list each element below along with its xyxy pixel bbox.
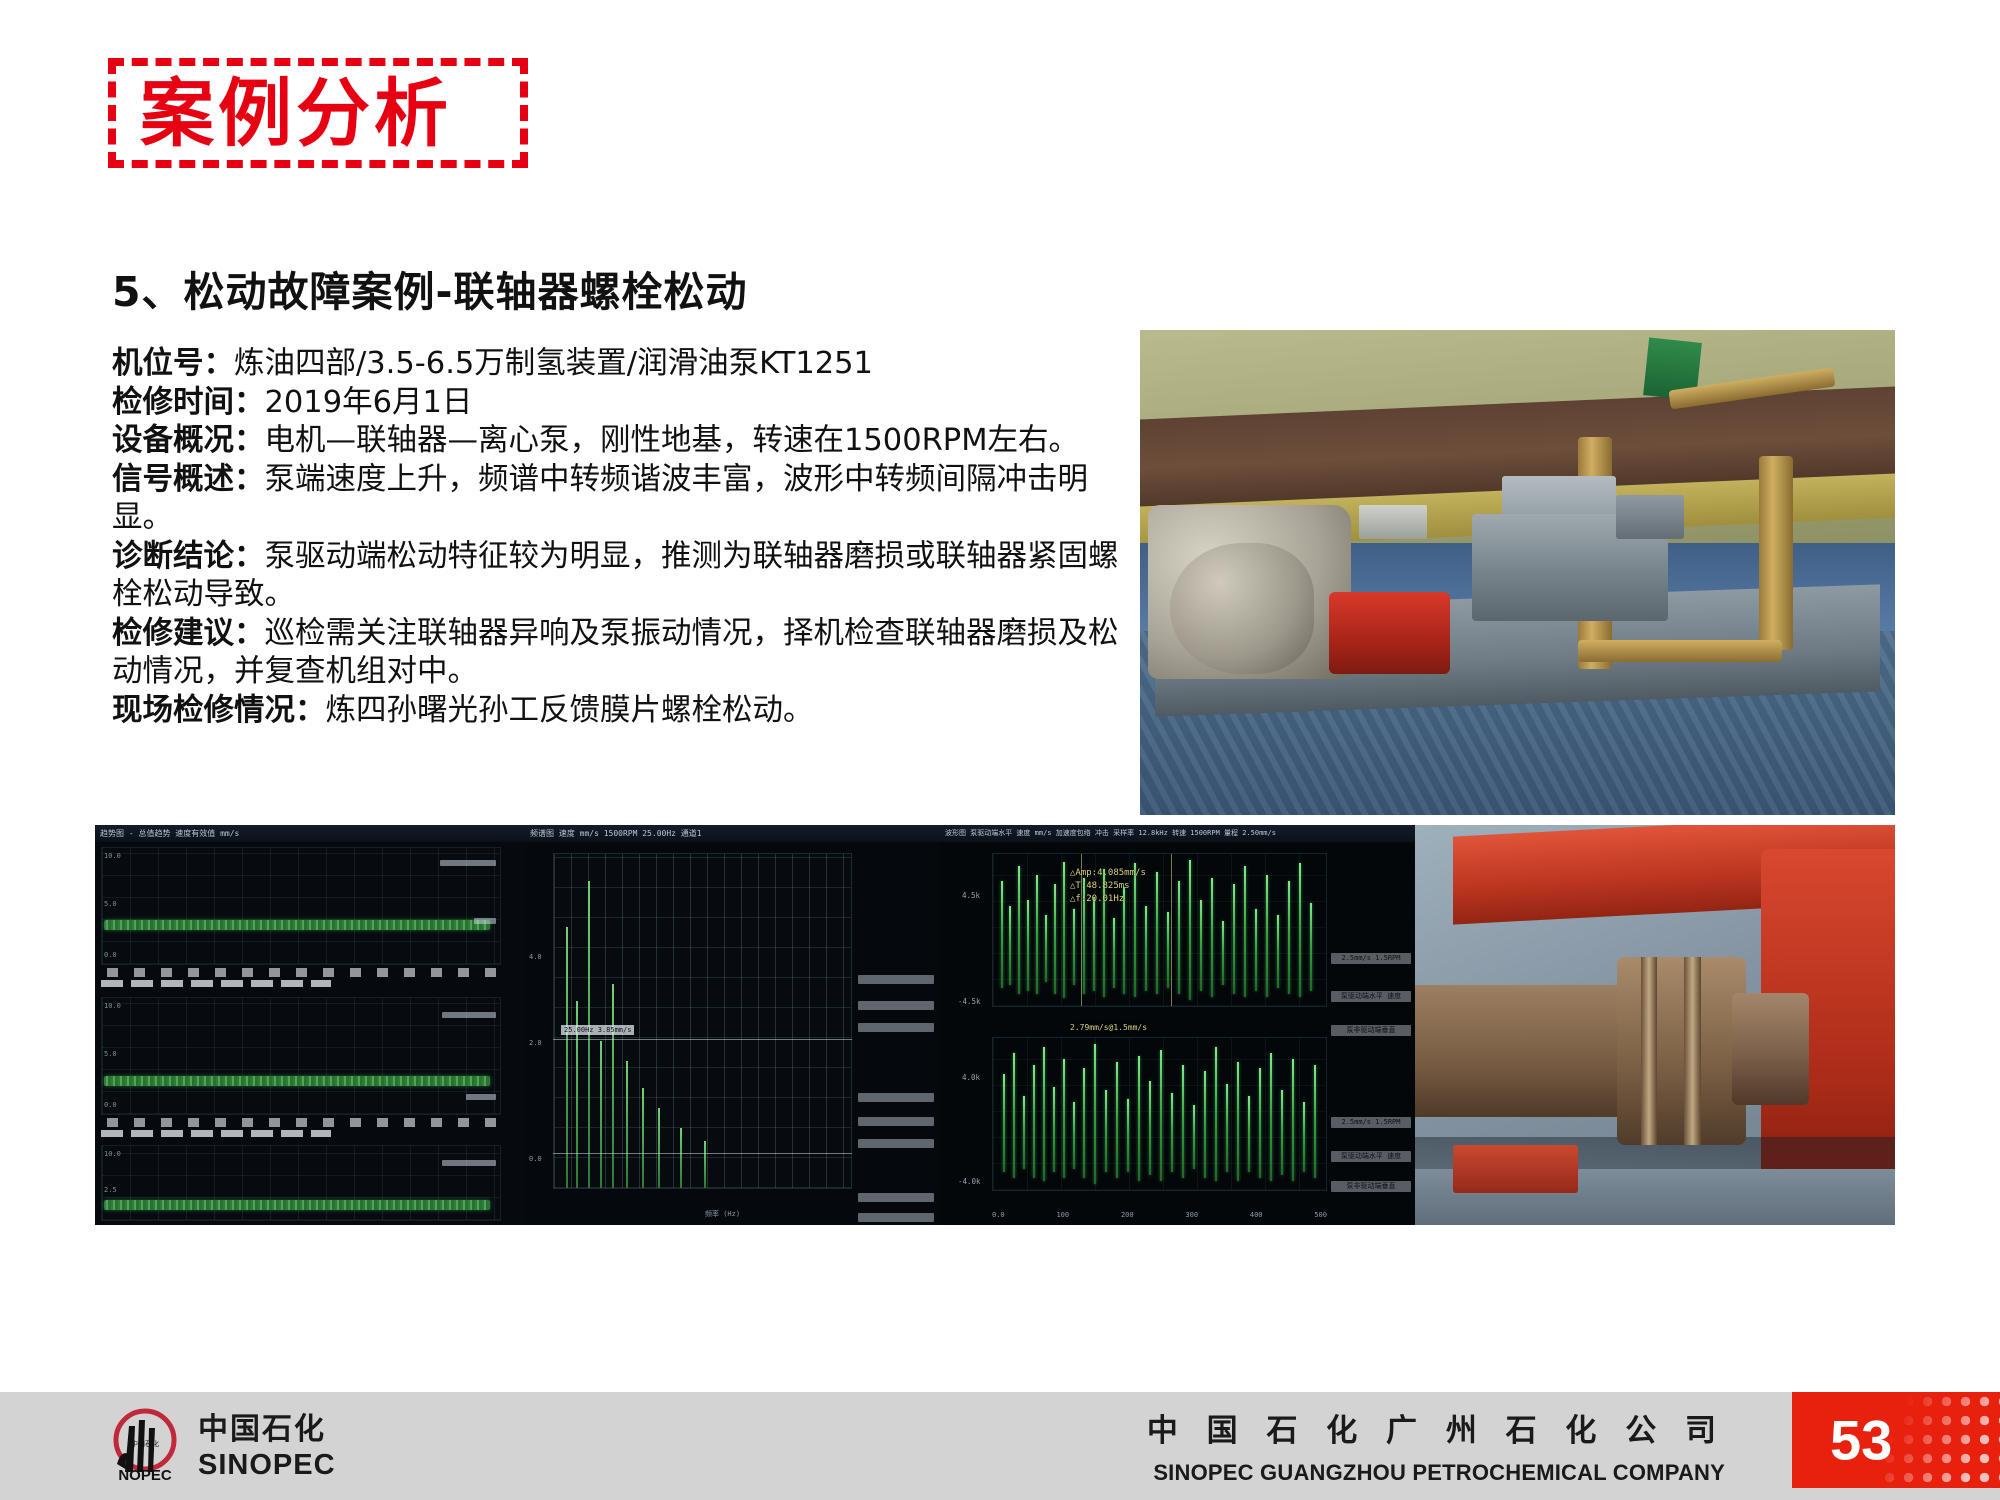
spectrum-x-axis-label: 频率 (Hz) <box>705 1209 740 1219</box>
waveform-spike <box>1211 878 1213 997</box>
spectrum-sidebar-entry[interactable] <box>858 1213 934 1222</box>
waveform-spike <box>1023 1096 1025 1169</box>
spectrum-sidebar-entry[interactable] <box>858 1023 934 1032</box>
waveform-spike <box>1200 900 1202 991</box>
coupling-shaft-left <box>1415 985 1636 1117</box>
halftone-dots-pattern <box>1880 1392 2000 1488</box>
waveform-spike <box>1277 915 1279 988</box>
waveform-spike <box>1299 863 1301 997</box>
waveform-x-tick: 0.0 <box>992 1211 1005 1221</box>
waveform-spike <box>1013 1053 1015 1178</box>
waveform-spike <box>1063 862 1065 999</box>
sinopec-logo-icon: 中国石化 NOPEC <box>95 1406 195 1484</box>
company-name-en: SINOPEC GUANGZHOU PETROCHEMICAL COMPANY <box>1153 1460 1725 1486</box>
waveform-spike <box>1266 875 1268 997</box>
pump-equipment-photo <box>1140 330 1895 815</box>
waveform-x-tick: 500 <box>1314 1211 1327 1221</box>
detail-value: 炼油四部/3.5-6.5万制氢装置/润滑油泵KT1251 <box>234 346 873 381</box>
waveform-spike <box>1145 906 1147 991</box>
spectrum-peak <box>704 1141 706 1188</box>
sinopec-brand-cn: 中国石化 <box>198 1404 326 1448</box>
waveform-spike <box>1303 1102 1305 1172</box>
waveform-chart-panel[interactable]: 波形图 泵驱动端水平 速度 mm/s 加速度包络 冲击 采样率 12.8kHz … <box>940 825 1415 1225</box>
waveform-spike <box>1116 1062 1118 1178</box>
trend-tick-row <box>107 968 497 977</box>
waveform-spike <box>1045 915 1047 982</box>
detail-label: 检修时间： <box>112 385 265 420</box>
waveform-annotation-line: △T:48.825ms <box>1070 880 1146 893</box>
spectrum-panel-titlebar: 频谱图 速度 mm/s 1500RPM 25.00Hz 通道1 <box>525 825 940 842</box>
photo-pipe-vertical-right <box>1759 456 1793 650</box>
waveform-cursor[interactable] <box>1171 854 1172 1006</box>
waveform-spike <box>1233 884 1235 993</box>
waveform-sidebar-entry[interactable]: 泵驱动端水平 速度 <box>1331 991 1411 1002</box>
waveform-sidebar-entry[interactable]: 泵非驱动端垂直 <box>1331 1025 1411 1036</box>
waveform-y-label-bottom-min: -4.0k <box>958 1177 981 1186</box>
trend-y-label: 0.0 <box>104 1101 117 1109</box>
trend-y-label: 0.0 <box>104 951 117 959</box>
trend-legend-swatch <box>442 1160 496 1166</box>
waveform-sidebar-entry[interactable]: 泵非驱动端垂直 <box>1331 1181 1411 1192</box>
page-title: 案例分析 <box>140 70 452 158</box>
detail-row: 机位号：炼油四部/3.5-6.5万制氢装置/润滑油泵KT1251 <box>112 345 1122 384</box>
case-details-block: 机位号：炼油四部/3.5-6.5万制氢装置/润滑油泵KT1251 检修时间：20… <box>112 345 1122 730</box>
waveform-spike <box>1288 881 1290 993</box>
trend-chart-panel[interactable]: 趋势图 - 总值趋势 速度有效值 mm/s 10.0 5.0 0.0 10.0 … <box>95 825 525 1225</box>
page-number-badge: 53 <box>1792 1392 2000 1488</box>
spectrum-peak <box>612 984 614 1188</box>
waveform-spike <box>1215 1047 1217 1181</box>
trend-y-label: 10.0 <box>104 852 121 860</box>
waveform-spike <box>1063 1059 1065 1178</box>
waveform-annotation-line: △Amp:4.085mm/s <box>1070 867 1146 880</box>
section-heading: 5、松动故障案例-联轴器螺栓松动 <box>112 258 748 318</box>
waveform-spike <box>1292 1059 1294 1181</box>
trend-legend-swatch <box>440 860 496 866</box>
waveform-spike <box>1083 1068 1085 1177</box>
waveform-inline-marker: 2.79mm/s@1.5mm/s <box>1070 1021 1147 1034</box>
trend-trace-line <box>104 1076 490 1086</box>
spectrum-sidebar-entry[interactable] <box>858 1117 934 1126</box>
waveform-spike <box>1003 1074 1005 1171</box>
waveform-spike <box>1027 900 1029 991</box>
waveform-spike <box>1001 881 1003 987</box>
waveform-spike <box>1255 909 1257 991</box>
detail-value: 2019年6月1日 <box>265 385 473 420</box>
company-name-cn: 中 国 石 化 广 州 石 化 公 司 <box>1147 1405 1725 1450</box>
trend-legend-swatch <box>442 1012 496 1018</box>
waveform-spike <box>1226 1084 1228 1172</box>
trend-tick-row <box>107 1118 497 1127</box>
trend-trace-line <box>104 1200 490 1210</box>
waveform-spike <box>1094 1044 1096 1184</box>
detail-row: 检修时间：2019年6月1日 <box>112 384 1122 423</box>
coupling-hub <box>1617 957 1747 1145</box>
waveform-x-tick: 100 <box>1056 1211 1069 1221</box>
spectrum-sidebar-entry[interactable] <box>858 1193 934 1202</box>
spectrum-chart-panel[interactable]: 频谱图 速度 mm/s 1500RPM 25.00Hz 通道1 25.00Hz … <box>525 825 940 1225</box>
waveform-spike <box>1033 1065 1035 1177</box>
detail-label: 机位号： <box>112 346 234 381</box>
trend-legend-swatch <box>466 1094 496 1100</box>
detail-value: 电机—联轴器—离心泵，刚性地基，转速在1500RPM左右。 <box>265 423 1080 458</box>
waveform-y-label-top: 4.5k <box>962 891 980 900</box>
spectrum-sidebar-entry[interactable] <box>858 1139 934 1148</box>
coupling-ring-first <box>1641 957 1658 1145</box>
waveform-spike <box>1073 909 1075 985</box>
waveform-sidebar-entry[interactable]: 2.5mm/s 1.5RPM <box>1331 953 1411 964</box>
waveform-y-label-top-min: -4.5k <box>958 997 981 1006</box>
trend-chart-1[interactable]: 10.0 5.0 0.0 <box>101 847 501 965</box>
photo-red-coupling-guard <box>1329 592 1450 674</box>
trend-panel-titlebar: 趋势图 - 总值趋势 速度有效值 mm/s <box>95 825 525 842</box>
waveform-spike <box>1127 1099 1129 1172</box>
waveform-x-tick: 300 <box>1185 1211 1198 1221</box>
svg-text:NOPEC: NOPEC <box>118 1467 172 1484</box>
trend-y-label: 5.0 <box>104 900 117 908</box>
spectrum-cursor-label: 25.00Hz 3.85mm/s <box>561 1025 634 1035</box>
photo-valve <box>1616 495 1684 539</box>
coupling-shaft-right <box>1732 993 1809 1105</box>
detail-label: 信号概述： <box>112 462 265 497</box>
waveform-spike <box>1281 1090 1283 1175</box>
spectrum-y-label: 4.0 <box>529 953 542 961</box>
detail-row: 诊断结论：泵驱动端松动特征较为明显，推测为联轴器磨损或联轴器紧固螺栓松动导致。 <box>112 538 1122 615</box>
detail-label: 现场检修情况： <box>112 693 326 728</box>
waveform-spike <box>1167 912 1169 988</box>
spectrum-peak <box>680 1128 682 1188</box>
detail-row: 信号概述：泵端速度上升，频谱中转频谐波丰富，波形中转频间隔冲击明显。 <box>112 461 1122 538</box>
spectrum-y-label: 2.0 <box>529 1039 542 1047</box>
waveform-spike <box>1248 1096 1250 1172</box>
trend-chart-2[interactable]: 10.0 5.0 0.0 <box>101 997 501 1115</box>
spectrum-peak <box>658 1108 660 1188</box>
photo-bolt-flange <box>1359 505 1427 539</box>
trend-grid <box>102 998 500 1114</box>
sinopec-brand-en: SINOPEC <box>198 1449 336 1482</box>
spectrum-peak <box>566 927 568 1188</box>
photo-pipe-horizontal <box>1578 640 1782 662</box>
svg-text:中国石化: 中国石化 <box>131 1439 159 1448</box>
waveform-x-tick: 200 <box>1121 1211 1134 1221</box>
trend-y-label: 2.5 <box>104 1186 117 1194</box>
waveform-panel-titlebar: 波形图 泵驱动端水平 速度 mm/s 加速度包络 冲击 采样率 12.8kHz … <box>940 825 1415 842</box>
coupling-photo <box>1415 825 1895 1225</box>
waveform-spike <box>1189 860 1191 1000</box>
waveform-sidebar-entry[interactable]: 2.5mm/s 1.5RPM <box>1331 1117 1411 1128</box>
trend-chart-3[interactable]: 10.0 2.5 <box>101 1145 501 1221</box>
waveform-spike <box>1036 875 1038 994</box>
waveform-spike <box>1043 1047 1045 1181</box>
waveform-spike <box>1149 1081 1151 1175</box>
waveform-spike <box>1193 1105 1195 1169</box>
spectrum-sidebar-entry[interactable] <box>858 1001 934 1010</box>
waveform-spike <box>1314 1065 1316 1177</box>
waveform-annotation-line: △f:20.01Hz <box>1070 893 1146 906</box>
waveform-spike <box>1270 1053 1272 1181</box>
waveform-spike <box>1222 921 1224 985</box>
waveform-x-axis: 0.0 100 200 300 400 500 <box>992 1211 1327 1221</box>
detail-label: 诊断结论： <box>112 539 265 574</box>
trend-trace-line <box>104 920 490 930</box>
detail-row: 设备概况：电机—联轴器—离心泵，刚性地基，转速在1500RPM左右。 <box>112 422 1122 461</box>
waveform-spike <box>1310 903 1312 991</box>
waveform-spike <box>1009 906 1011 985</box>
waveform-spike <box>1204 1071 1206 1177</box>
waveform-spike <box>1237 1062 1239 1181</box>
trend-scale-bar <box>101 1130 331 1137</box>
waveform-annotation: △Amp:4.085mm/s △T:48.825ms △f:20.01Hz <box>1070 867 1146 906</box>
trend-y-label: 10.0 <box>104 1150 121 1158</box>
waveform-spike <box>1105 1090 1107 1172</box>
waveform-spike <box>1156 872 1158 994</box>
waveform-spike <box>1018 866 1020 994</box>
spectrum-sidebar-entry[interactable] <box>858 975 934 984</box>
waveform-plot-lower[interactable] <box>992 1037 1327 1191</box>
spectrum-y-label: 0.0 <box>529 1155 542 1163</box>
waveform-spike <box>1073 1102 1075 1169</box>
spectrum-cursor-line-upper <box>553 1039 852 1040</box>
waveform-spike <box>1182 1065 1184 1177</box>
waveform-spike <box>1138 1056 1140 1181</box>
waveform-sidebar-entry[interactable]: 泵驱动端水平 速度 <box>1331 1151 1411 1162</box>
page-number: 53 <box>1830 1408 1892 1473</box>
waveform-y-label-bottom: 4.0k <box>962 1073 980 1082</box>
trend-y-label: 5.0 <box>104 1050 117 1058</box>
coupling-guard-bottom <box>1453 1145 1578 1193</box>
waveform-spike <box>1053 1087 1055 1172</box>
waveform-spike <box>1113 918 1115 988</box>
footer-bar: 中国石化 NOPEC 中国石化 SINOPEC 中 国 石 化 广 州 石 化 … <box>0 1392 2000 1500</box>
waveform-spike <box>1244 866 1246 997</box>
spectrum-cursor-line-lower <box>553 1153 852 1154</box>
waveform-spike <box>1171 1093 1173 1172</box>
spectrum-sidebar-entry[interactable] <box>858 1093 934 1102</box>
spectrum-peak <box>626 1061 628 1188</box>
waveform-plot-upper[interactable] <box>992 853 1327 1007</box>
photo-motor-housing <box>1170 543 1313 674</box>
waveform-spike <box>1160 1050 1162 1181</box>
spectrum-plot-area[interactable] <box>553 853 852 1189</box>
waveform-spike <box>1178 881 1180 993</box>
spectrum-peak <box>642 1088 644 1188</box>
waveform-spike <box>1054 884 1056 993</box>
waveform-spike <box>1093 897 1095 991</box>
waveform-x-tick: 400 <box>1250 1211 1263 1221</box>
trend-y-label: 10.0 <box>104 1002 121 1010</box>
detail-row: 现场检修情况：炼四孙曙光孙工反馈膜片螺栓松动。 <box>112 692 1122 731</box>
waveform-spike <box>1259 1068 1261 1177</box>
coupling-ring-second <box>1684 957 1701 1145</box>
detail-label: 检修建议： <box>112 616 265 651</box>
detail-value: 炼四孙曙光孙工反馈膜片螺栓松动。 <box>326 693 814 728</box>
detail-row: 检修建议：巡检需关注联轴器异响及泵振动情况，择机检查联轴器磨损及松动情况，并复查… <box>112 615 1122 692</box>
trend-legend-swatch <box>474 918 496 924</box>
detail-label: 设备概况： <box>112 423 265 458</box>
spectrum-peak <box>600 1041 602 1188</box>
trend-scale-bar <box>101 980 331 987</box>
